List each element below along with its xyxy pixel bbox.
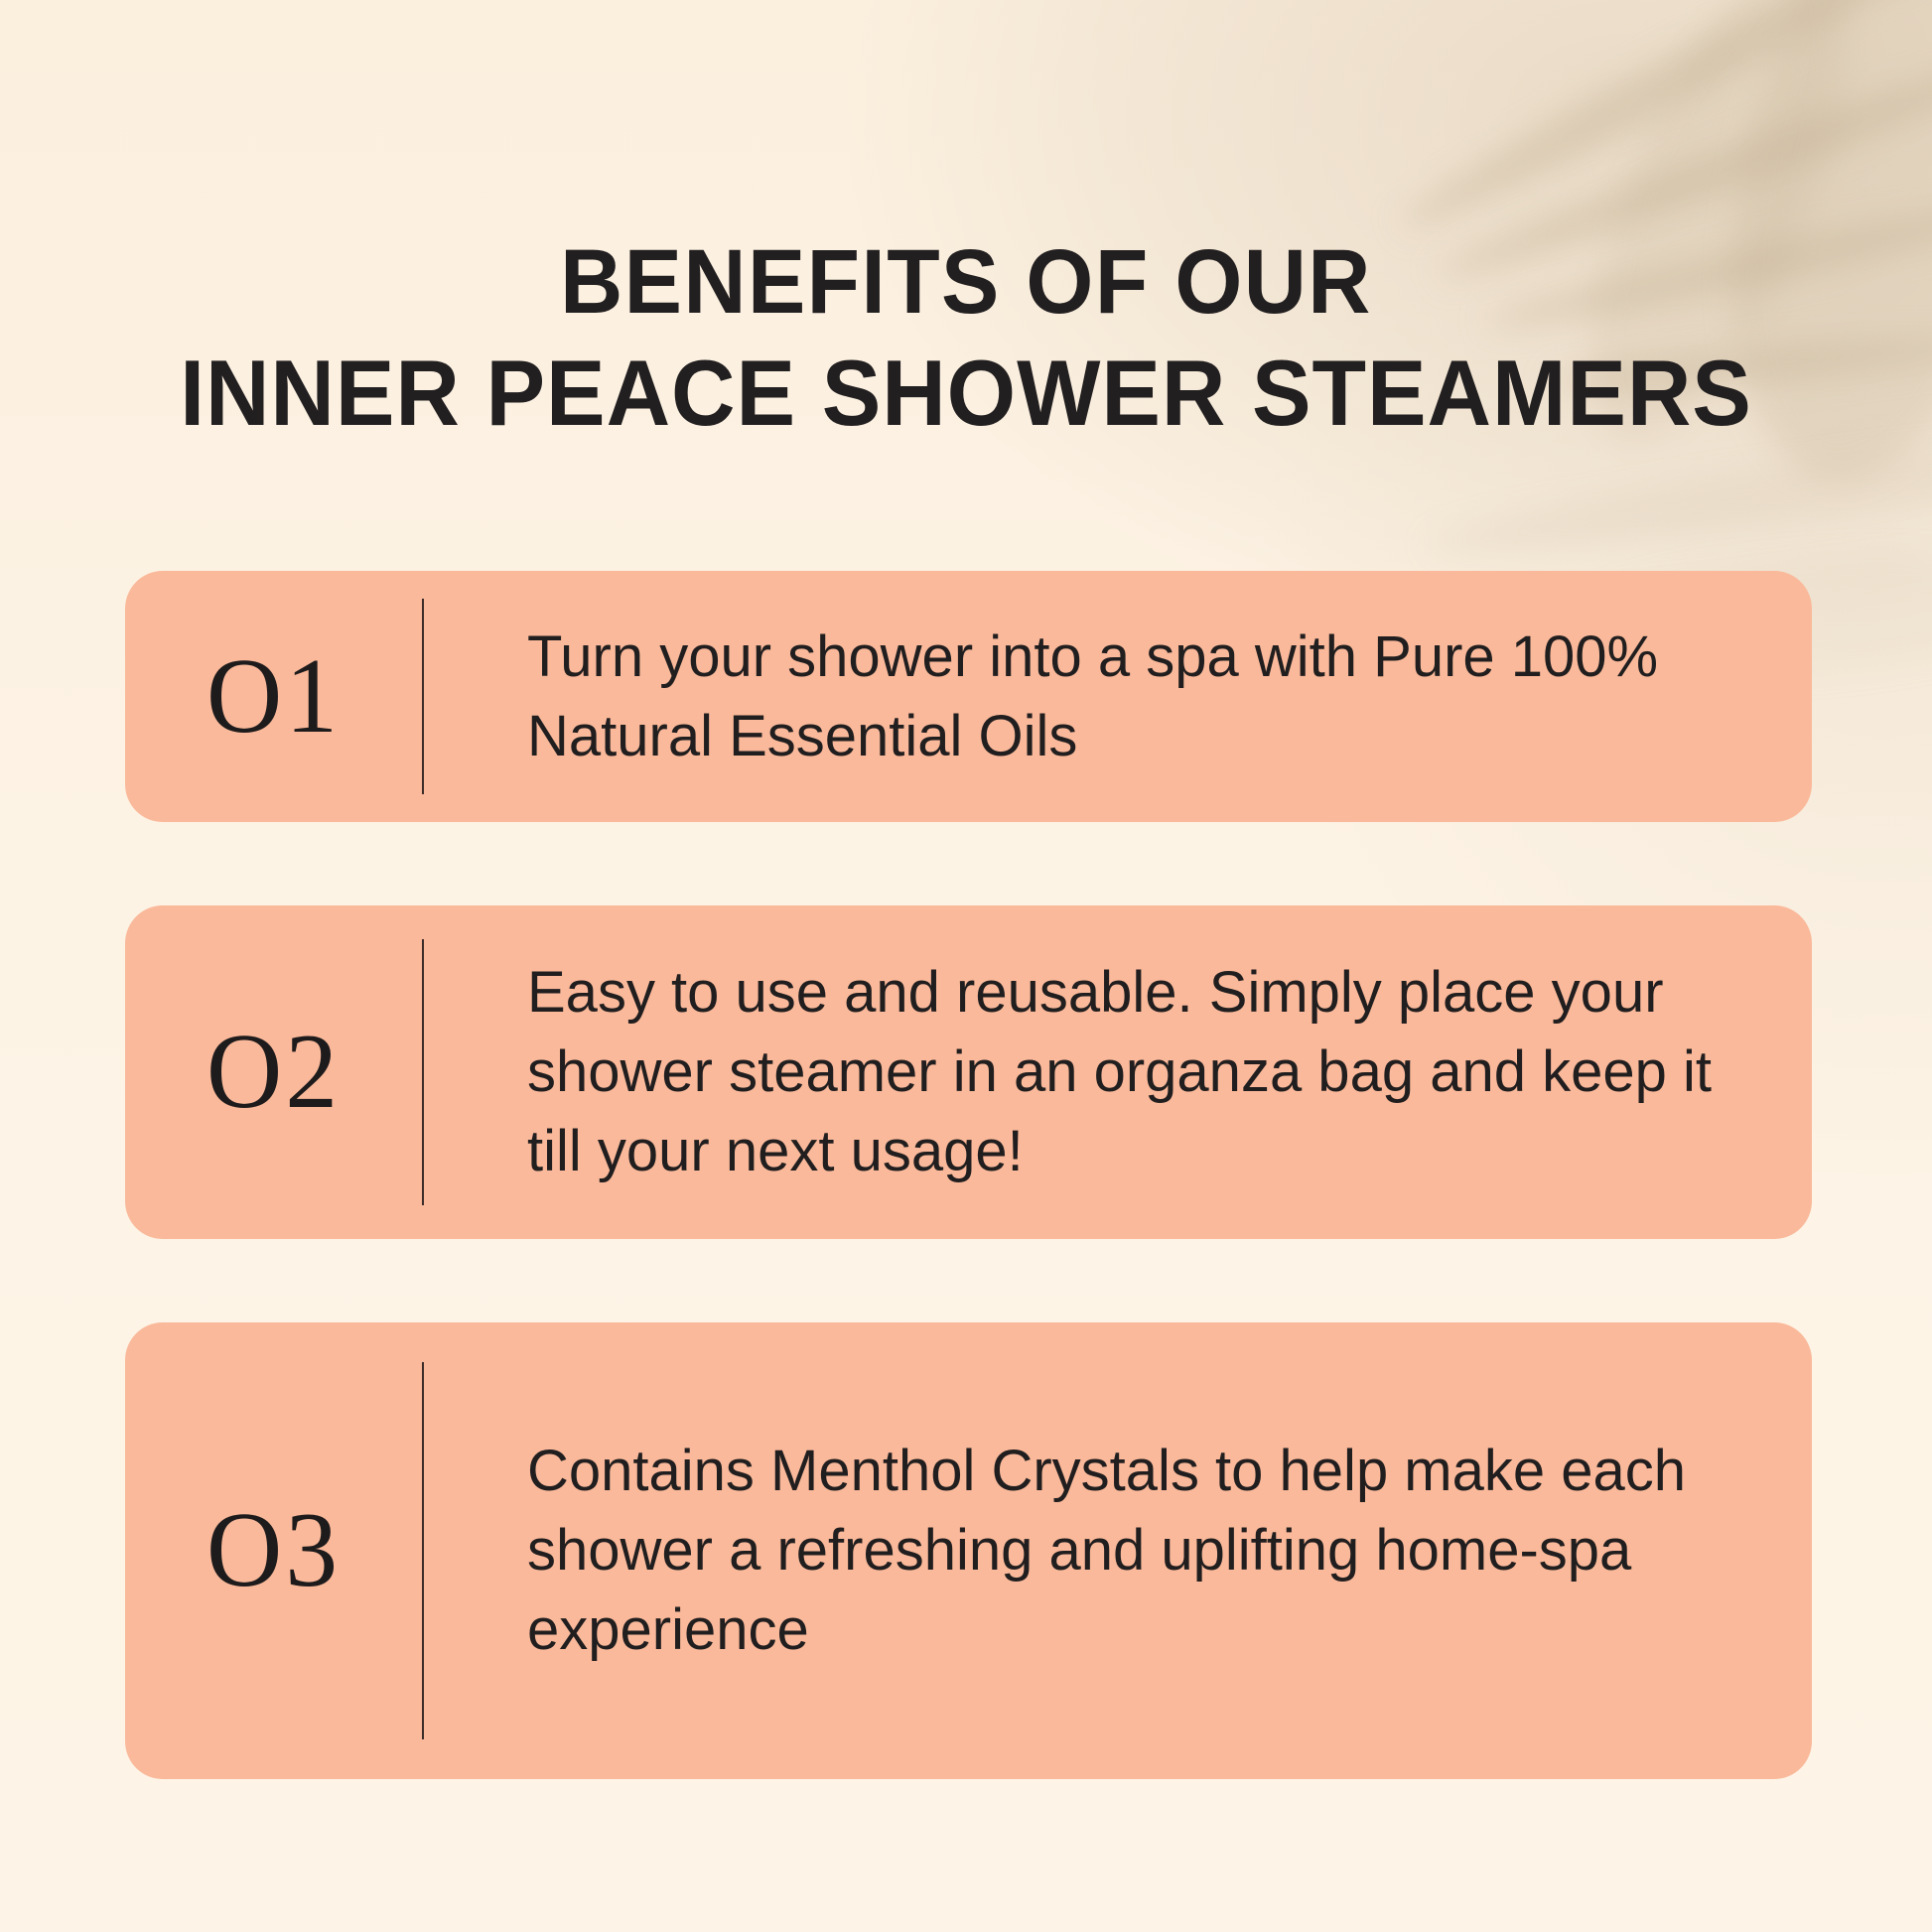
benefit-divider-2 [422,939,424,1205]
palm-leaf-shadow-icon [1390,0,1932,246]
page-title: BENEFITS OF OUR INNER PEACE SHOWER STEAM… [0,226,1932,449]
benefits-list: O1 Turn your shower into a spa with Pure… [125,571,1812,1779]
benefit-card-2: O2 Easy to use and reusable. Simply plac… [125,905,1812,1239]
benefit-number-3: O3 [128,1497,419,1604]
poster-canvas: BENEFITS OF OUR INNER PEACE SHOWER STEAM… [0,0,1932,1932]
benefit-text-3: Contains Menthol Crystals to help make e… [424,1432,1812,1670]
benefit-divider-1 [422,599,424,794]
benefit-text-2: Easy to use and reusable. Simply place y… [424,953,1812,1191]
page-title-line-1: BENEFITS OF OUR [49,226,1884,338]
benefit-number-2: O2 [128,1019,419,1126]
page-title-line-2: INNER PEACE SHOWER STEAMERS [49,338,1884,449]
benefit-divider-3 [422,1362,424,1739]
benefit-number-1: O1 [128,643,419,751]
benefit-text-1: Turn your shower into a spa with Pure 10… [424,618,1812,776]
benefit-card-3: O3 Contains Menthol Crystals to help mak… [125,1322,1812,1779]
benefit-card-1: O1 Turn your shower into a spa with Pure… [125,571,1812,822]
